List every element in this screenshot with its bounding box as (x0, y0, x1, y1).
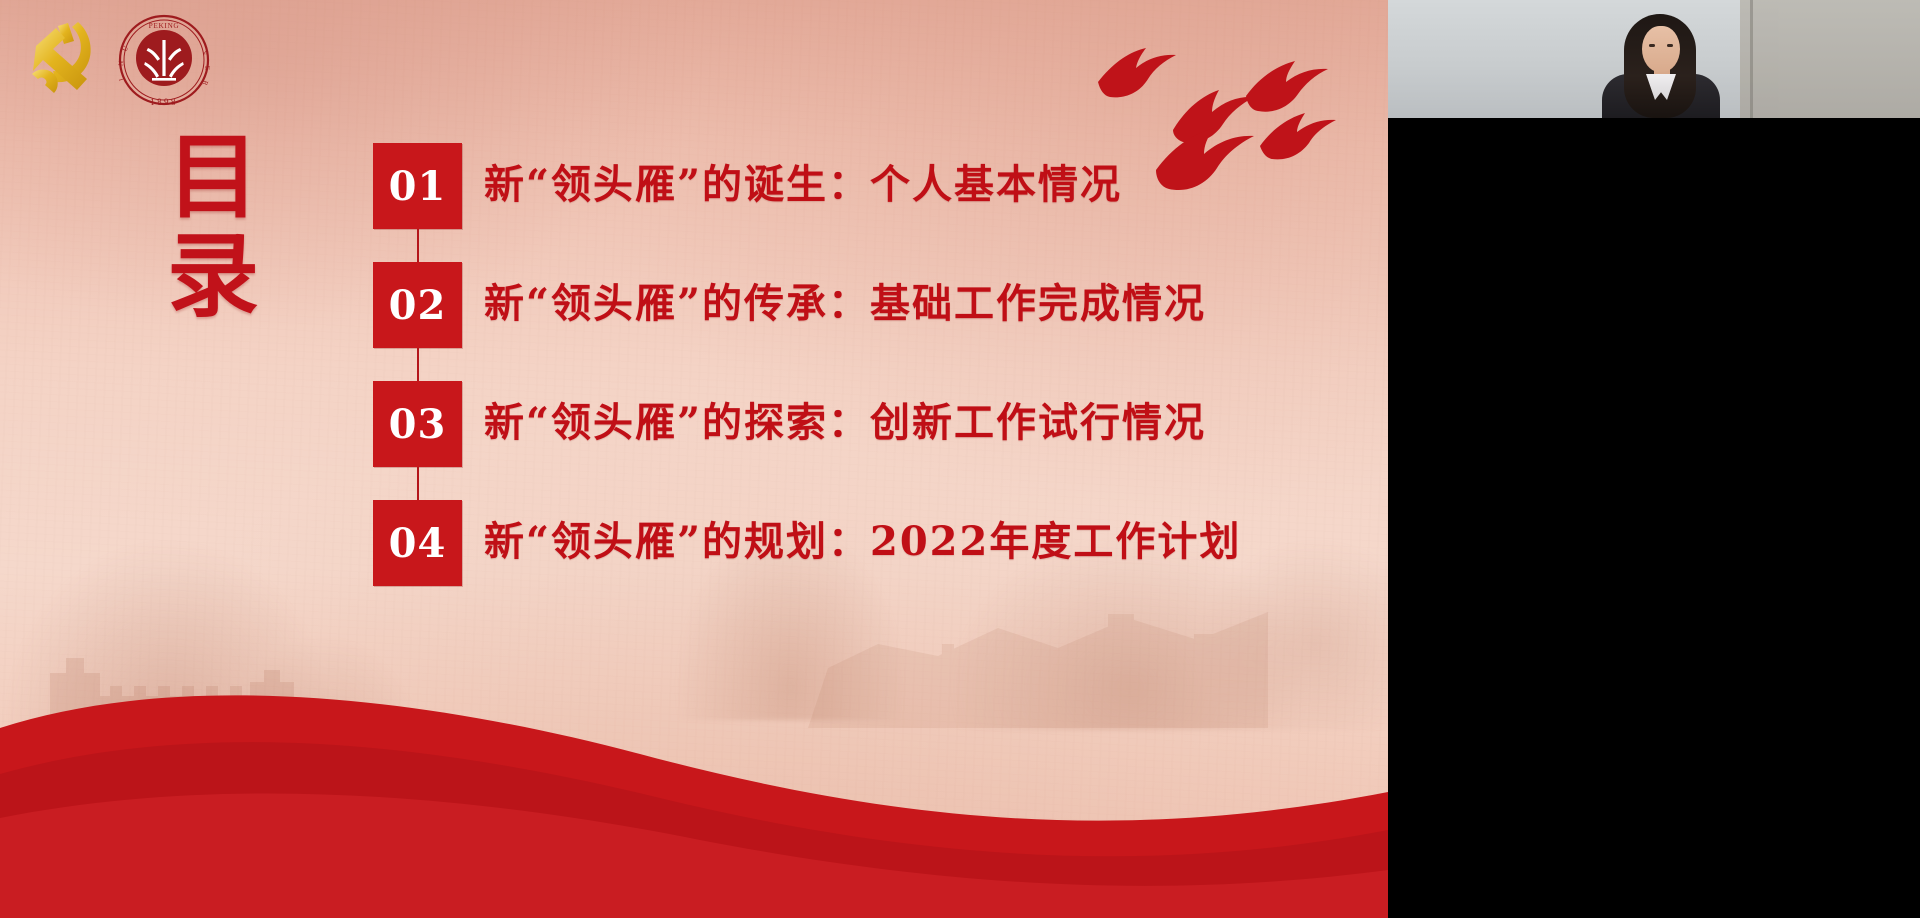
great-wall-icon-left (40, 578, 340, 748)
toc-label-01: 新“领头雁”的诞生：个人基本情况 (484, 149, 1122, 221)
hammer-sickle-icon (14, 12, 114, 108)
video-sidebar (1388, 0, 1920, 918)
svg-text:R: R (201, 79, 210, 86)
toc-number-03: 03 (389, 401, 447, 448)
pku-seal-icon: PEKING 1898 U N I V E R (114, 12, 214, 108)
toc-number-badge-02[interactable]: 02 (373, 262, 462, 348)
toc-connector-03 (417, 467, 419, 500)
toc-list: 01 新“领头雁”的诞生：个人基本情况 02 新“领头雁”的传承：基础工作完成情… (373, 143, 1273, 619)
page-title-char-1: 目 (148, 128, 278, 227)
toc-number-01: 01 (389, 163, 447, 210)
svg-text:E: E (203, 65, 211, 70)
toc-number-badge-01[interactable]: 01 (373, 143, 462, 229)
presentation-slide: PEKING 1898 U N I V E R (0, 0, 1388, 918)
toc-number-badge-03[interactable]: 03 (373, 381, 462, 467)
participant-face (1642, 26, 1680, 72)
screen-root: PEKING 1898 U N I V E R (0, 0, 1920, 918)
video-background-door (1740, 0, 1920, 118)
toc-label-03: 新“领头雁”的探索：创新工作试行情况 (484, 387, 1206, 459)
toc-label-04: 新“领头雁”的规划：2022年度工作计划 (484, 506, 1241, 578)
toc-number-04: 04 (389, 520, 447, 567)
page-title: 目 录 (148, 128, 278, 327)
toc-item-04[interactable]: 04 新“领头雁”的规划：2022年度工作计划 (373, 500, 1273, 619)
toc-item-02[interactable]: 02 新“领头雁”的传承：基础工作完成情况 (373, 262, 1273, 381)
participant-eye-left (1649, 44, 1655, 47)
participant-eye-right (1667, 44, 1673, 47)
participant-video-tile[interactable] (1388, 0, 1920, 118)
toc-item-01[interactable]: 01 新“领头雁”的诞生：个人基本情况 (373, 143, 1273, 262)
page-title-char-2: 录 (148, 227, 278, 326)
empty-video-area (1388, 118, 1920, 918)
svg-text:PEKING: PEKING (149, 21, 180, 30)
toc-connector-01 (417, 229, 419, 262)
toc-item-03[interactable]: 03 新“领头雁”的探索：创新工作试行情况 (373, 381, 1273, 500)
logo-group: PEKING 1898 U N I V E R (14, 8, 224, 113)
toc-label-02: 新“领头雁”的传承：基础工作完成情况 (484, 268, 1206, 340)
svg-text:U: U (121, 45, 130, 53)
svg-text:1898: 1898 (150, 97, 178, 107)
toc-connector-02 (417, 348, 419, 381)
toc-number-02: 02 (389, 282, 447, 329)
svg-text:N: N (117, 60, 125, 66)
toc-number-badge-04[interactable]: 04 (373, 500, 462, 586)
